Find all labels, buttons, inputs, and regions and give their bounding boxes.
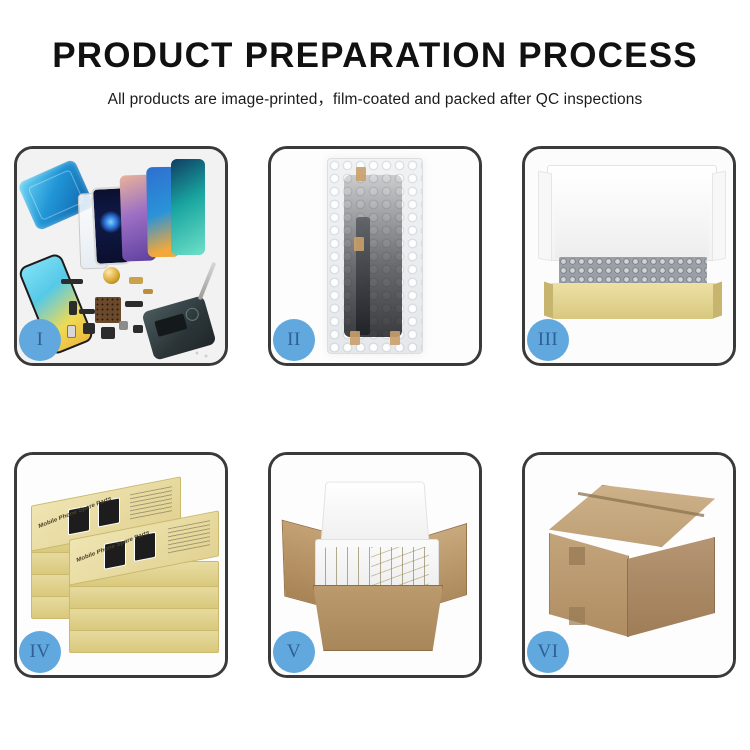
carton-front-face-icon (549, 533, 629, 637)
step-panel-3: III (522, 146, 736, 366)
yellow-box-base-icon (551, 283, 715, 319)
vibration-motor-part-icon (103, 267, 120, 284)
foam-sheet-icon (555, 193, 709, 259)
part-icon (101, 327, 115, 339)
grey-bubble-wrap-icon (559, 257, 707, 285)
step-badge-6: VI (527, 631, 569, 673)
carton-body-icon (313, 585, 443, 651)
page-title: PRODUCT PREPARATION PROCESS (0, 38, 750, 73)
tape-icon (390, 331, 400, 345)
carton-side-face-icon (627, 537, 715, 637)
phone-display-teal-icon (171, 159, 205, 255)
foam-cooler-lid-icon (320, 482, 430, 548)
part-icon (83, 323, 95, 334)
screws-icon (193, 349, 215, 359)
chip-array-part-icon (95, 297, 121, 323)
process-steps-grid: I II III (14, 146, 736, 678)
part-icon (133, 325, 143, 333)
tape-icon (356, 167, 366, 181)
step-panel-6: VI (522, 452, 736, 678)
bubble-wrap-bag-icon (327, 158, 423, 354)
step-panel-5: V (268, 452, 482, 678)
wrapped-item-icon (344, 175, 402, 337)
tape-icon (354, 237, 364, 251)
part-icon (129, 277, 143, 284)
carton-top-face-icon (549, 485, 715, 547)
part-icon (67, 325, 76, 338)
step-panel-2: II (268, 146, 482, 366)
step-badge-1: I (19, 319, 61, 361)
packed-yellow-boxes-icon (325, 547, 429, 589)
part-icon (79, 309, 95, 314)
carton-tape-icon (569, 607, 585, 625)
box-stack-icon: Mobile Phone Spare Parts Mobile Phone Sp… (27, 475, 223, 659)
part-icon (69, 301, 77, 315)
box-text-lines-icon (168, 520, 210, 554)
step-badge-3: III (527, 319, 569, 361)
part-icon (61, 279, 83, 284)
page-header: PRODUCT PREPARATION PROCESS All products… (0, 0, 750, 109)
page-subtitle: All products are image-printed，film-coat… (0, 87, 750, 109)
part-icon (125, 301, 143, 307)
step-badge-2: II (273, 319, 315, 361)
part-icon (143, 289, 153, 294)
part-icon (119, 321, 128, 330)
step-badge-5: V (273, 631, 315, 673)
carton-tape-icon (569, 547, 585, 565)
step-panel-1: I (14, 146, 228, 366)
step-badge-4: IV (19, 631, 61, 673)
tweezers-icon (198, 262, 217, 301)
box-text-lines-icon (130, 486, 172, 520)
step-panel-4: Mobile Phone Spare Parts Mobile Phone Sp… (14, 452, 228, 678)
flex-cable-icon (356, 217, 370, 335)
tape-icon (350, 331, 360, 345)
